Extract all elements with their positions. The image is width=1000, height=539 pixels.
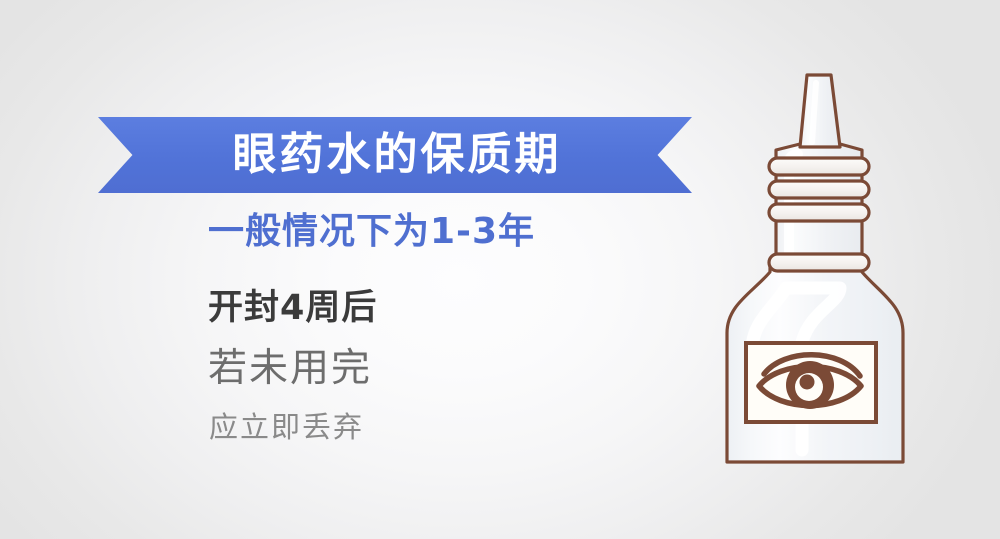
cap-ridge-2 [769, 181, 869, 198]
body-line-if-unused: 若未用完 [208, 346, 372, 393]
subtitle-text: 一般情况下为1-3年 [208, 210, 535, 253]
nozzle-tip [800, 75, 840, 147]
eye-label [746, 343, 876, 422]
body-line-discard: 应立即丢弃 [209, 410, 364, 445]
cap-ridge-1 [769, 158, 869, 175]
body-line-opened-after: 开封4周后 [208, 287, 377, 329]
poster-canvas: 眼药水的保质期 一般情况下为1-3年 开封4周后 若未用完 应立即丢弃 [0, 0, 1000, 539]
cap-ridge-3 [769, 204, 869, 221]
neck-collar [769, 254, 869, 271]
banner: 眼药水的保质期 [98, 117, 692, 193]
bottle-cap [769, 144, 869, 271]
eye-drop-bottle-illustration [690, 50, 950, 490]
banner-title: 眼药水的保质期 [98, 117, 692, 193]
